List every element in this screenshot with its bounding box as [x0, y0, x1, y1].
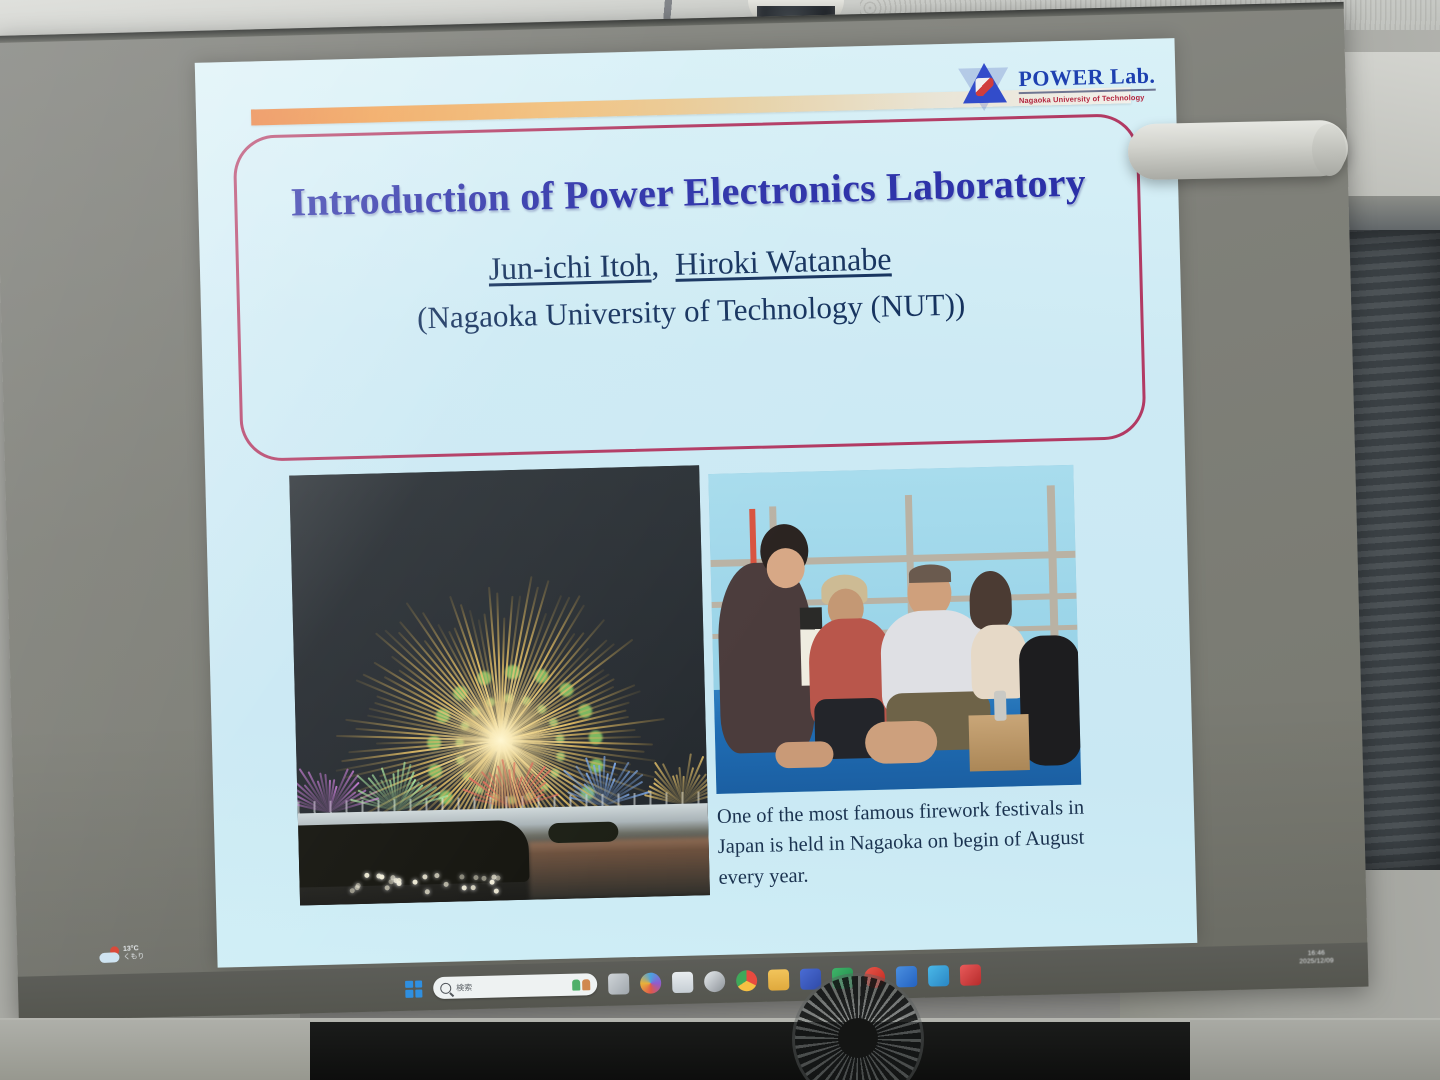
- onedrive-button[interactable]: [896, 965, 918, 987]
- start-button[interactable]: [405, 980, 422, 997]
- file-explorer-button[interactable]: [768, 969, 790, 991]
- festival-people-photo: [708, 465, 1081, 794]
- power-lab-logo: POWER Lab. Nagaoka University of Technol…: [956, 57, 1156, 114]
- taskbar-clock[interactable]: 16:46 2025/12/09: [1299, 949, 1334, 966]
- logo-main-text: POWER Lab.: [1018, 64, 1156, 93]
- search-illustration-icon: [572, 979, 590, 990]
- water-reflection: [529, 837, 710, 900]
- clock-date: 2025/12/09: [1299, 958, 1334, 967]
- small-firework: [358, 748, 434, 812]
- cardboard-box: [969, 714, 1030, 772]
- author-name-2: Hiroki Watanabe: [675, 240, 892, 281]
- weather-condition: くもり: [123, 953, 144, 962]
- search-input[interactable]: 検索: [433, 973, 598, 999]
- chrome-button[interactable]: [736, 969, 758, 991]
- triangle-logo-icon: [956, 60, 1013, 113]
- desk-left: [0, 1020, 310, 1080]
- small-firework: [564, 743, 640, 807]
- dark-foreground-area: [300, 1022, 1200, 1080]
- logo-sub-text: Nagaoka University of Technology: [1019, 93, 1156, 104]
- presentation-slide: POWER Lab. Nagaoka University of Technol…: [195, 38, 1198, 968]
- authors-separator: ,: [651, 246, 660, 282]
- small-firework: [474, 745, 550, 809]
- crowd-lights: [329, 868, 510, 897]
- desk-right: [1190, 1020, 1440, 1080]
- task-view-button[interactable]: [608, 973, 630, 995]
- small-firework: [644, 741, 710, 805]
- slide-caption: One of the most famous firework festival…: [717, 792, 1099, 893]
- fireworks-photo: [289, 465, 710, 905]
- fan-hub: [838, 1018, 878, 1058]
- weather-cloud-icon: [99, 946, 120, 963]
- app-button[interactable]: [960, 964, 982, 986]
- powerpoint-button[interactable]: [928, 965, 950, 987]
- drink-can: [994, 691, 1007, 721]
- copilot-button[interactable]: [640, 972, 662, 994]
- teams-button[interactable]: [800, 968, 822, 990]
- search-placeholder: 検索: [456, 979, 567, 993]
- riverbank-far: [548, 821, 618, 843]
- store-button[interactable]: [672, 971, 694, 993]
- screenshot-root: POWER Lab. Nagaoka University of Technol…: [0, 0, 1440, 1080]
- author-name-1: Jun-ichi Itoh: [488, 246, 651, 286]
- weather-widget[interactable]: 13°C くもり: [99, 945, 145, 963]
- small-firework: [290, 750, 366, 814]
- search-icon: [440, 982, 451, 993]
- mail-button[interactable]: [704, 970, 726, 992]
